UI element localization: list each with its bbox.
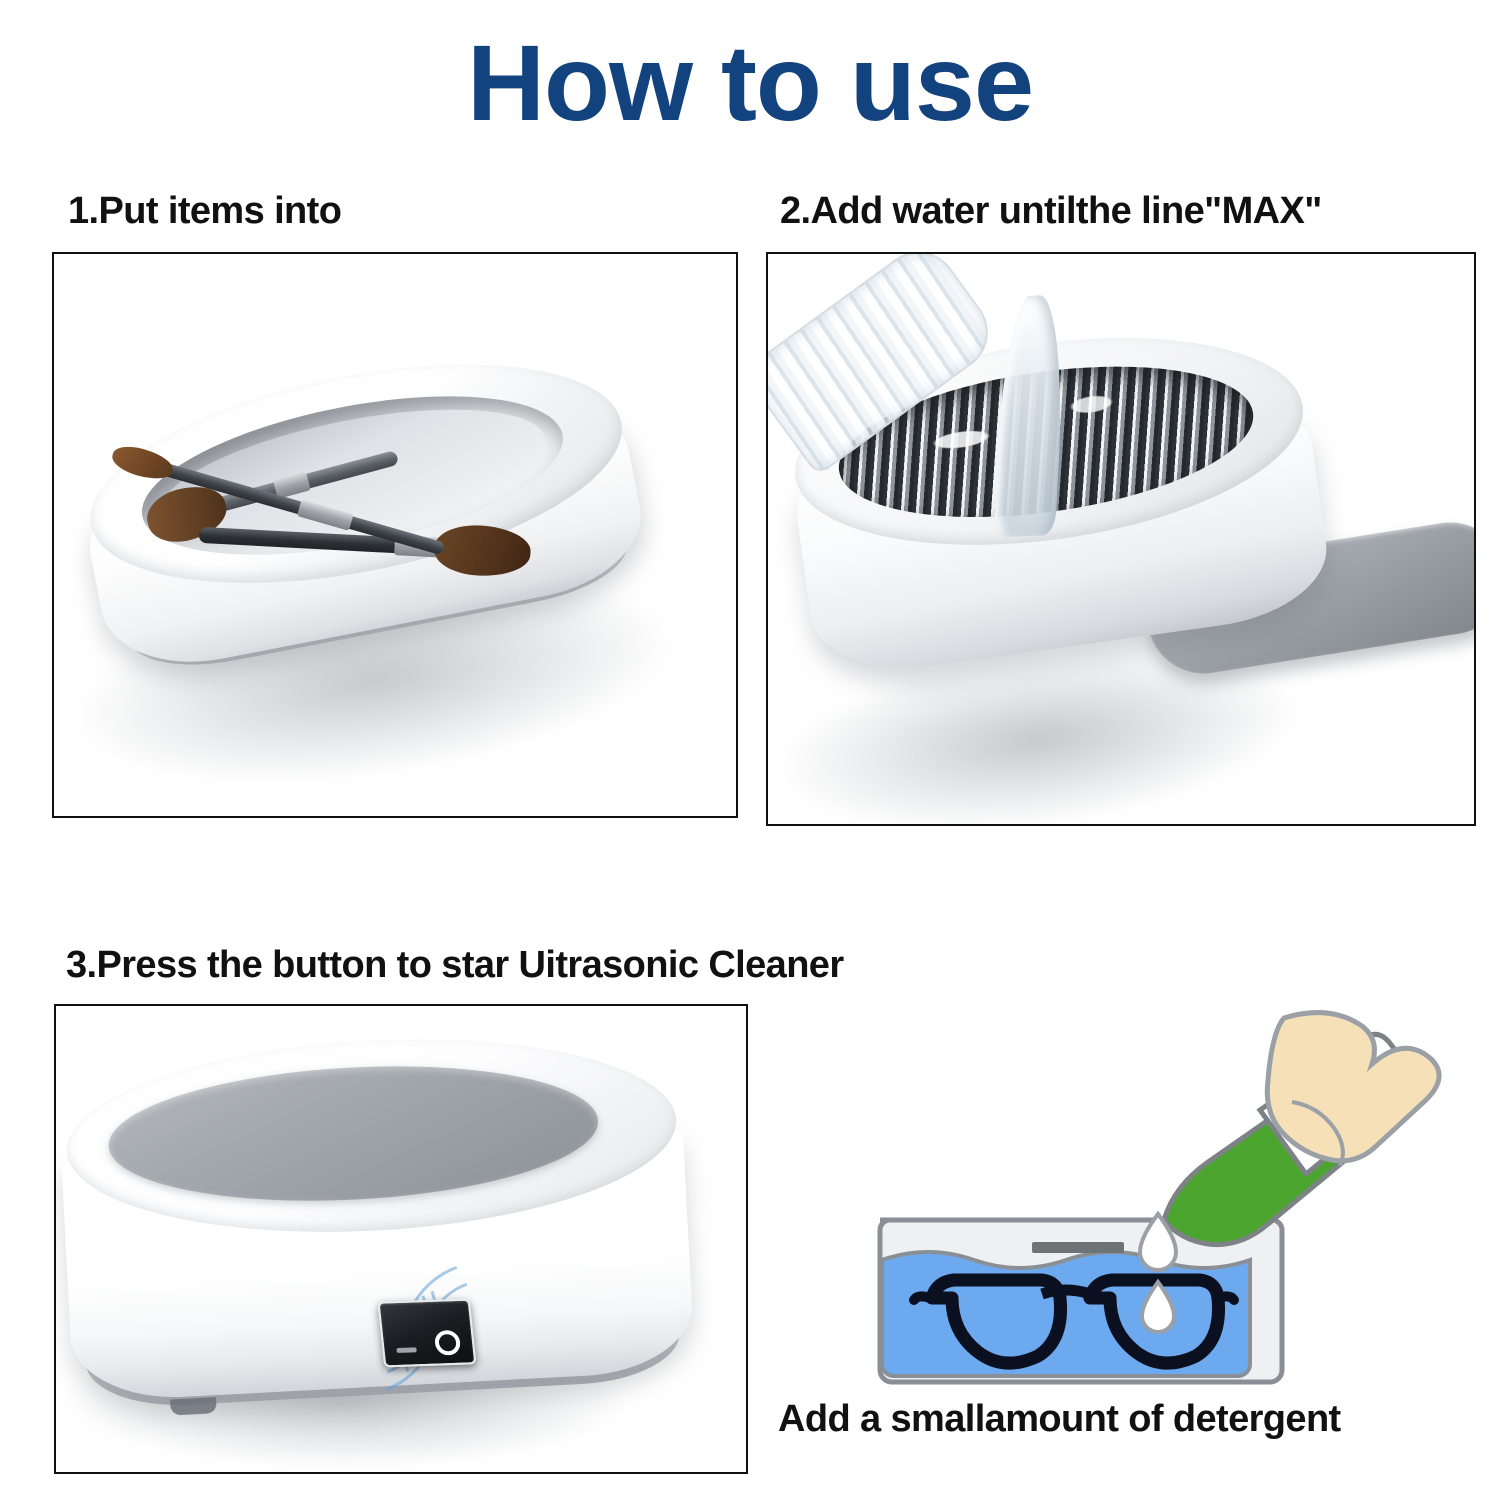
ultrasonic-cleaner-unit (56, 1024, 716, 1457)
max-line-marker (1032, 1242, 1124, 1253)
step-1-scene (54, 254, 736, 816)
water-stream (993, 294, 1068, 537)
step-1-image-panel (52, 252, 738, 818)
detergent-caption: Add a smallamount of detergent (778, 1398, 1341, 1441)
hand (1267, 1013, 1439, 1166)
ultrasonic-cleaner-tub (771, 257, 1384, 751)
step-2-scene (768, 254, 1474, 824)
switch-off-mark (434, 1330, 462, 1356)
step-3-scene (56, 1006, 746, 1472)
page-title: How to use (0, 26, 1500, 139)
step-2-label: 2.Add water untilthe line"MAX" (780, 190, 1322, 233)
step-1-label: 1.Put items into (68, 190, 341, 233)
infographic-page: How to use 1.Put items into (0, 0, 1500, 1500)
detergent-illustration (862, 1006, 1462, 1398)
power-rocker-switch[interactable] (377, 1299, 476, 1368)
unit-foot (170, 1397, 217, 1415)
step-3-label: 3.Press the button to star Uitrasonic Cl… (66, 944, 844, 987)
step-3-image-panel (54, 1004, 748, 1474)
step-2-image-panel (766, 252, 1476, 826)
switch-on-mark (396, 1347, 417, 1353)
